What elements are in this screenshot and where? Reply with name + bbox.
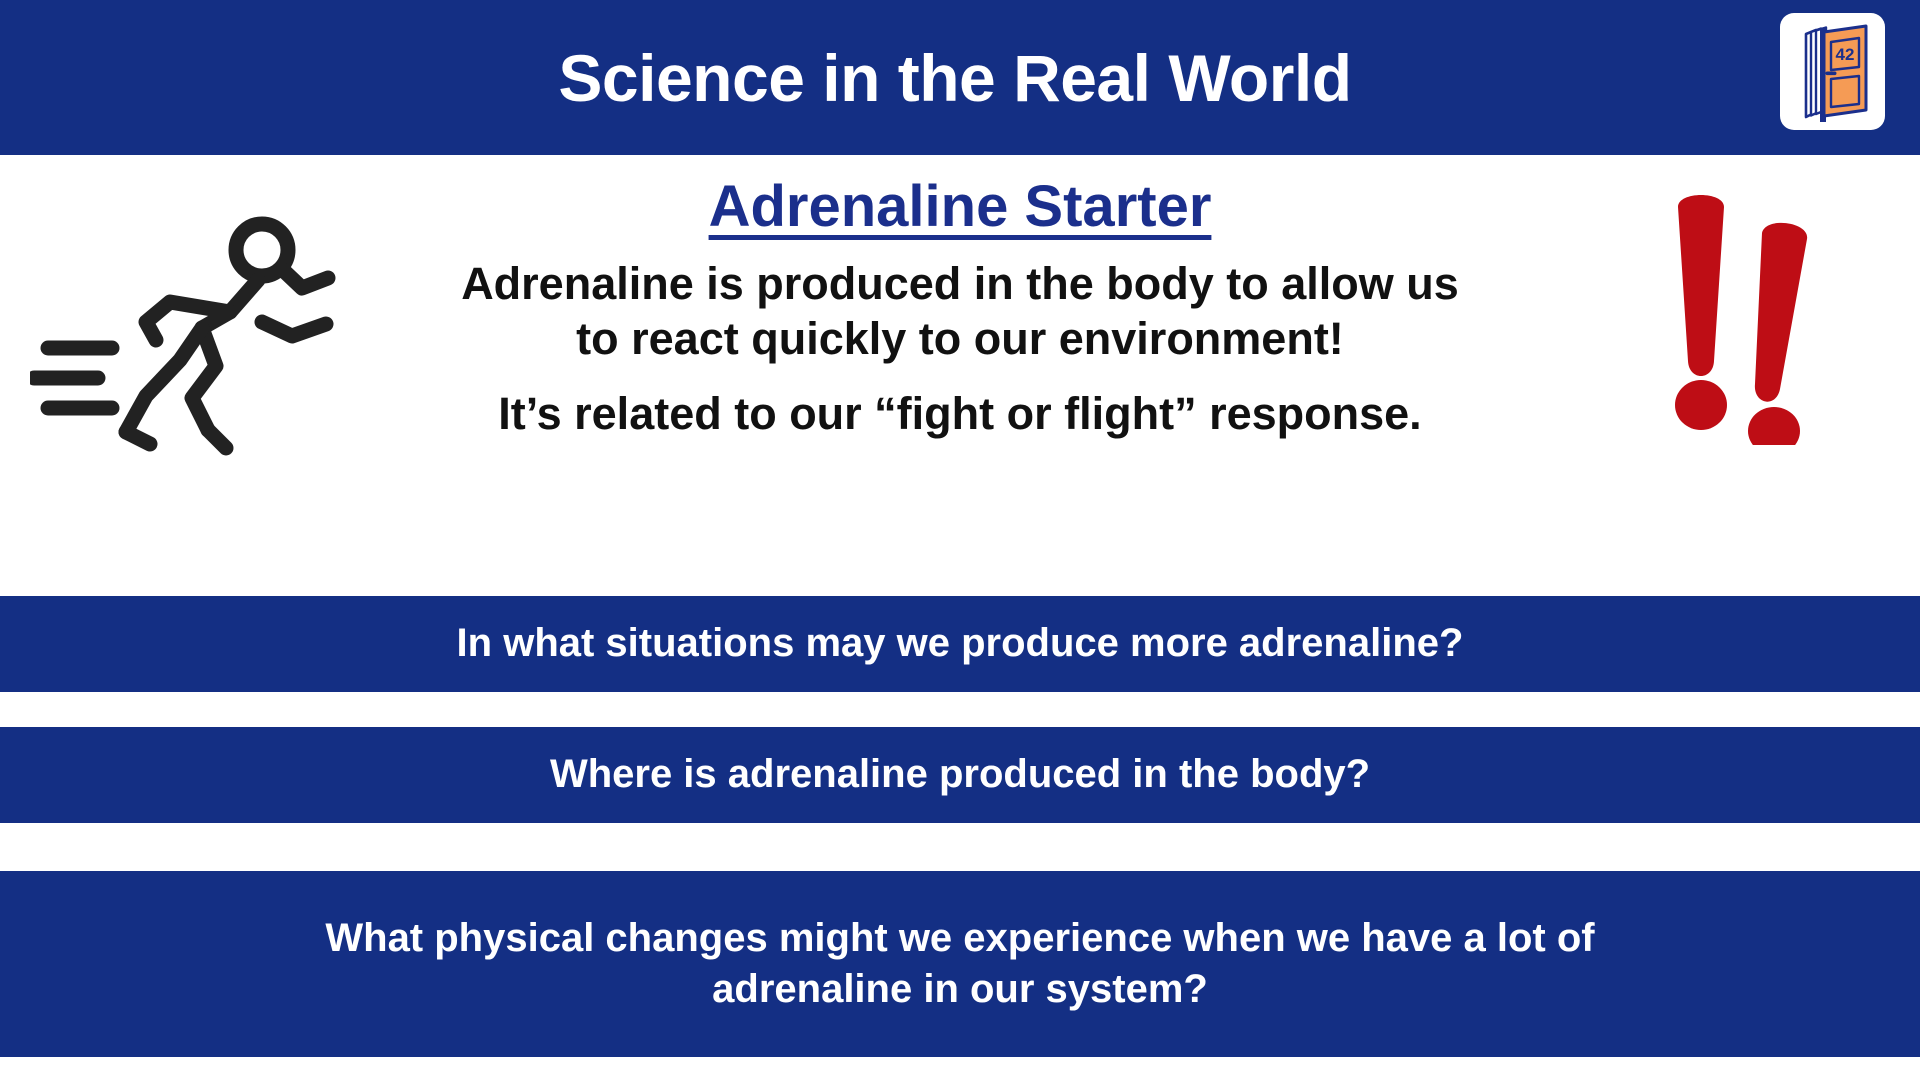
starter-paragraph-1-line-1: Adrenaline is produced in the body to al… bbox=[461, 257, 1459, 312]
question-bar-1[interactable]: In what situations may we produce more a… bbox=[0, 596, 1920, 692]
door-42-book-logo[interactable]: 42 bbox=[1780, 13, 1885, 130]
main-content: Adrenaline Starter Adrenaline is produce… bbox=[0, 155, 1920, 596]
double-exclamation-icon bbox=[1650, 185, 1840, 445]
page-title: Science in the Real World bbox=[558, 45, 1351, 111]
question-3-line-2: adrenaline in our system? bbox=[325, 964, 1594, 1015]
question-3-text: What physical changes might we experienc… bbox=[205, 913, 1714, 1015]
starter-text-block: Adrenaline Starter Adrenaline is produce… bbox=[300, 155, 1620, 596]
slide-header: Science in the Real World bbox=[0, 0, 1920, 155]
starter-paragraph-2-line-1: It’s related to our “fight or flight” re… bbox=[498, 387, 1421, 442]
question-1-text: In what situations may we produce more a… bbox=[337, 618, 1584, 669]
starter-paragraph-1-line-2: to react quickly to our environment! bbox=[461, 312, 1459, 367]
starter-paragraph-1: Adrenaline is produced in the body to al… bbox=[461, 257, 1459, 367]
svg-text:42: 42 bbox=[1835, 45, 1854, 64]
door-42-book-logo-icon: 42 bbox=[1790, 22, 1876, 122]
question-bar-2[interactable]: Where is adrenaline produced in the body… bbox=[0, 727, 1920, 823]
question-3-line-1: What physical changes might we experienc… bbox=[325, 913, 1594, 964]
starter-paragraph-2: It’s related to our “fight or flight” re… bbox=[498, 387, 1421, 442]
starter-heading: Adrenaline Starter bbox=[709, 175, 1212, 239]
question-bar-3[interactable]: What physical changes might we experienc… bbox=[0, 871, 1920, 1057]
question-2-text: Where is adrenaline produced in the body… bbox=[430, 749, 1490, 800]
